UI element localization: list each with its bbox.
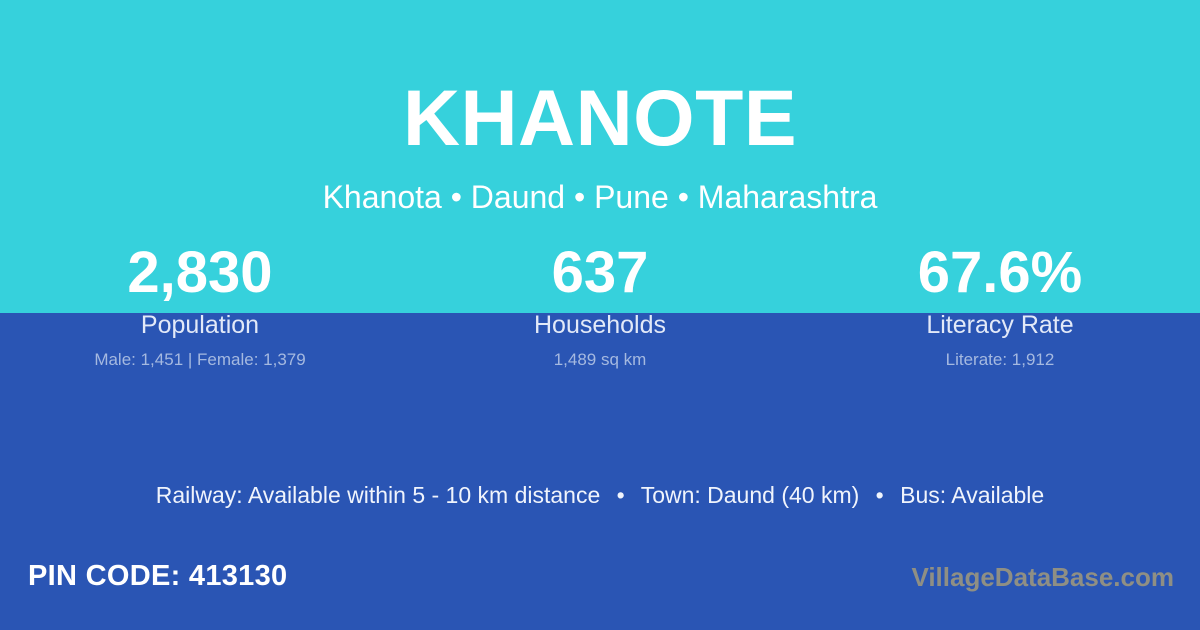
railway-info: Railway: Available within 5 - 10 km dist…: [156, 482, 600, 508]
stat-value: 2,830: [0, 243, 400, 304]
transport-separator-1: •: [607, 484, 635, 507]
site-brand: VillageDataBase.com: [911, 564, 1174, 590]
stat-population: 2,830 Population Male: 1,451 | Female: 1…: [0, 243, 400, 368]
footer: PIN CODE: 413130 VillageDataBase.com: [0, 546, 1200, 630]
page-title: KHANOTE: [0, 78, 1200, 157]
stat-value: 637: [400, 243, 800, 304]
stat-label: Population: [0, 313, 400, 338]
stat-literacy-rate: 67.6% Literacy Rate Literate: 1,912: [800, 243, 1200, 368]
stat-sublabel: Literate: 1,912: [800, 351, 1200, 368]
town-info: Town: Daund (40 km): [641, 482, 860, 508]
breadcrumb: Khanota • Daund • Pune • Maharashtra: [0, 181, 1200, 213]
stats-row: 2,830 Population Male: 1,451 | Female: 1…: [0, 243, 1200, 368]
stat-households: 637 Households 1,489 sq km: [400, 243, 800, 368]
bus-info: Bus: Available: [900, 482, 1044, 508]
header: KHANOTE Khanota • Daund • Pune • Maharas…: [0, 0, 1200, 213]
pin-code: PIN CODE: 413130: [28, 562, 287, 591]
stat-value: 67.6%: [800, 243, 1200, 304]
stat-sublabel: Male: 1,451 | Female: 1,379: [0, 351, 400, 368]
stat-label: Literacy Rate: [800, 313, 1200, 338]
transport-separator-2: •: [866, 484, 894, 507]
stat-sublabel: 1,489 sq km: [400, 351, 800, 368]
stat-label: Households: [400, 313, 800, 338]
village-info-card: KHANOTE Khanota • Daund • Pune • Maharas…: [0, 0, 1200, 630]
transport-info-line: Railway: Available within 5 - 10 km dist…: [0, 484, 1200, 507]
